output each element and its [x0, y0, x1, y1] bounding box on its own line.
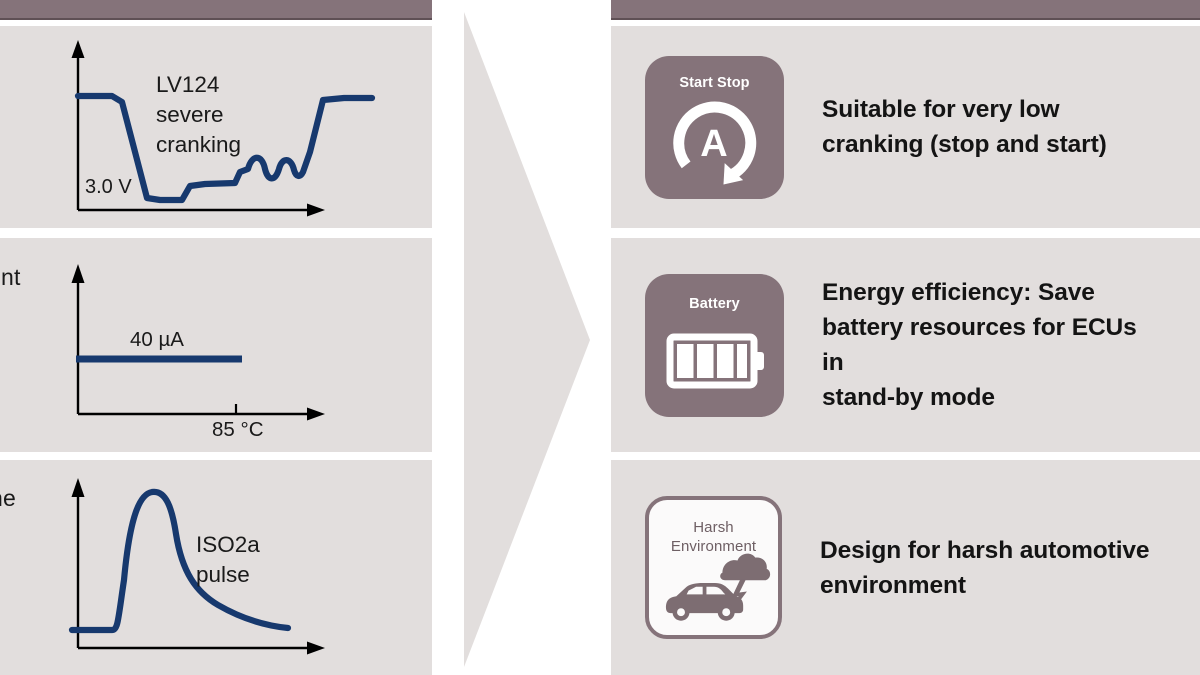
left-column-header-bar [0, 0, 432, 20]
iso2a-axis-label-cropped: ne [0, 485, 16, 512]
battery-benefit-line-2: battery resources for ECUs in [822, 310, 1162, 380]
battery-cell [717, 344, 734, 378]
quiescent-current-axis-label-cropped: ent [0, 264, 21, 291]
battery-benefit-text: Energy efficiency: Save battery resource… [822, 275, 1162, 415]
x-axis-arrowhead [307, 408, 325, 421]
left-panel-quiescent-current: 40 µA 85 °C [0, 238, 432, 452]
slide-canvas: LV124 severe cranking 3.0 V 40 µA 85 °C … [0, 0, 1200, 675]
y-axis-arrowhead [72, 478, 85, 497]
cranking-annotation-line-1: LV124 [156, 70, 241, 100]
flow-arrow-container [432, 0, 611, 675]
battery-cell [677, 344, 694, 378]
battery-terminal-nub [754, 352, 764, 370]
y-axis-arrowhead [72, 264, 85, 283]
start-stop-icon[interactable]: Start Stop A [645, 56, 784, 199]
start-stop-benefit-line-1: Suitable for very low [822, 92, 1107, 127]
battery-benefit-line-3: stand-by mode [822, 380, 1162, 415]
harsh-environment-icon[interactable]: Harsh Environment [645, 496, 782, 639]
iso2a-annotation: ISO2a pulse [196, 530, 260, 590]
harsh-environment-graphic-icon [649, 500, 778, 635]
right-panel-battery: Battery Energy efficiency: Save battery … [611, 238, 1200, 452]
right-column-header-bar [611, 0, 1200, 20]
car-wheel-front-hub [677, 608, 685, 616]
flow-arrow-shape [464, 12, 590, 667]
left-panel-cranking: LV124 severe cranking 3.0 V [0, 26, 432, 228]
x-axis-arrowhead [307, 204, 325, 217]
start-stop-benefit-text: Suitable for very low cranking (stop and… [822, 92, 1107, 162]
battery-cell [737, 344, 747, 378]
temperature-tick-label: 85 °C [212, 418, 264, 442]
cranking-voltage-label: 3.0 V [85, 176, 132, 199]
flow-arrow-icon [432, 0, 611, 675]
current-value-label: 40 µA [130, 328, 184, 352]
left-panel-iso2a-pulse: ISO2a pulse [0, 460, 432, 675]
battery-graphic-icon [645, 274, 784, 417]
harsh-environment-benefit-line-1: Design for harsh automotive [820, 533, 1149, 568]
right-panel-harsh-environment: Harsh Environment [611, 460, 1200, 675]
battery-cell [697, 344, 714, 378]
cranking-annotation: LV124 severe cranking [156, 70, 241, 160]
y-axis-arrowhead [72, 40, 85, 58]
cranking-annotation-line-2: severe [156, 100, 241, 130]
right-panel-start-stop: Start Stop A Suitable for very low crank… [611, 26, 1200, 228]
iso2a-annotation-line-2: pulse [196, 560, 260, 590]
car-wheel-rear-hub [722, 608, 730, 616]
harsh-environment-benefit-text: Design for harsh automotive environment [820, 533, 1149, 603]
start-stop-benefit-line-2: cranking (stop and start) [822, 127, 1107, 162]
battery-benefit-line-1: Energy efficiency: Save [822, 275, 1162, 310]
storm-cloud-shape [720, 554, 770, 581]
cranking-annotation-line-3: cranking [156, 130, 241, 160]
battery-icon[interactable]: Battery [645, 274, 784, 417]
start-stop-circular-arrow-icon: A [645, 56, 784, 199]
start-stop-letter-a: A [700, 123, 727, 165]
iso2a-annotation-line-1: ISO2a [196, 530, 260, 560]
x-axis-arrowhead [307, 642, 325, 655]
harsh-environment-benefit-line-2: environment [820, 568, 1149, 603]
